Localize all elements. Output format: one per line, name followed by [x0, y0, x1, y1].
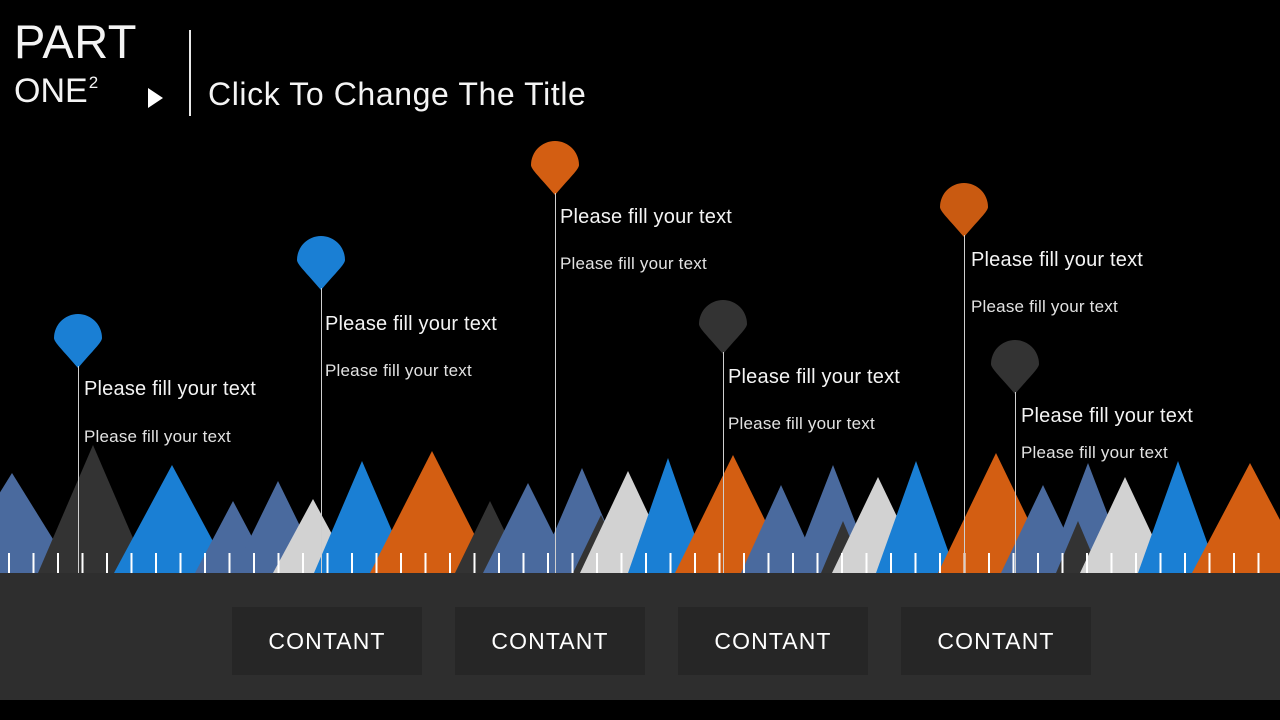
marker-label-secondary[interactable]: Please fill your text	[84, 427, 231, 447]
marker-label-secondary[interactable]: Please fill your text	[560, 254, 707, 274]
tick-mark	[229, 553, 231, 573]
part-superscript: 2	[89, 73, 98, 92]
marker-label-primary[interactable]: Please fill your text	[971, 249, 1143, 272]
content-button[interactable]: CONTANT	[901, 607, 1091, 675]
tick-mark	[890, 553, 892, 573]
footer-bottom-band	[0, 700, 1280, 720]
marker-label-secondary[interactable]: Please fill your text	[325, 361, 472, 381]
tick-mark	[817, 553, 819, 573]
balloon-stem	[78, 366, 79, 573]
tick-mark	[670, 553, 672, 573]
tick-mark	[253, 553, 255, 573]
tick-mark	[645, 553, 647, 573]
tick-mark	[33, 553, 35, 573]
tick-mark	[204, 553, 206, 573]
part-label-block: PART ONE2	[14, 18, 137, 108]
tick-mark	[400, 553, 402, 573]
tick-mark	[1184, 553, 1186, 573]
tick-mark	[939, 553, 941, 573]
tick-mark	[498, 553, 500, 573]
slide-header: PART ONE2 Click To Change The Title	[0, 0, 1280, 140]
part-word: PART	[14, 18, 137, 65]
content-button[interactable]: CONTANT	[232, 607, 422, 675]
tick-mark	[155, 553, 157, 573]
marker-label-primary[interactable]: Please fill your text	[560, 206, 732, 229]
tick-mark	[351, 553, 353, 573]
tick-mark	[841, 553, 843, 573]
marker-label-primary[interactable]: Please fill your text	[84, 378, 256, 401]
tick-mark	[1037, 553, 1039, 573]
tick-mark	[376, 553, 378, 573]
part-number-row: ONE2	[14, 74, 137, 108]
header-divider	[189, 30, 191, 116]
tick-mark	[572, 553, 574, 573]
tick-mark	[106, 553, 108, 573]
marker-label-secondary[interactable]: Please fill your text	[971, 297, 1118, 317]
tick-mark	[1062, 553, 1064, 573]
slide-canvas: PART ONE2 Click To Change The Title Plea…	[0, 0, 1280, 720]
tick-mark	[1086, 553, 1088, 573]
tick-mark	[474, 553, 476, 573]
tick-mark	[915, 553, 917, 573]
page-title[interactable]: Click To Change The Title	[208, 76, 586, 113]
content-button[interactable]: CONTANT	[455, 607, 645, 675]
marker-label-primary[interactable]: Please fill your text	[1021, 405, 1193, 428]
tick-mark	[82, 553, 84, 573]
tick-mark	[1233, 553, 1235, 573]
marker-label-secondary[interactable]: Please fill your text	[1021, 443, 1168, 463]
tick-mark	[1111, 553, 1113, 573]
tick-mark	[523, 553, 525, 573]
marker-label-secondary[interactable]: Please fill your text	[728, 414, 875, 434]
tick-mark	[180, 553, 182, 573]
tick-mark	[866, 553, 868, 573]
balloon-stem	[555, 193, 556, 573]
tick-mark	[792, 553, 794, 573]
tick-mark	[621, 553, 623, 573]
tick-mark	[1209, 553, 1211, 573]
tick-mark	[278, 553, 280, 573]
balloon-stem	[321, 288, 322, 573]
tick-mark	[1160, 553, 1162, 573]
tick-mark	[8, 553, 10, 573]
tick-mark	[302, 553, 304, 573]
tick-mark	[327, 553, 329, 573]
tick-mark	[743, 553, 745, 573]
tick-mark	[596, 553, 598, 573]
play-triangle-icon[interactable]	[148, 88, 163, 108]
tick-mark	[719, 553, 721, 573]
marker-label-primary[interactable]: Please fill your text	[325, 313, 497, 336]
tick-mark	[694, 553, 696, 573]
tick-mark	[131, 553, 133, 573]
balloon-stem	[964, 235, 965, 573]
tick-mark	[425, 553, 427, 573]
content-button[interactable]: CONTANT	[678, 607, 868, 675]
tick-mark	[547, 553, 549, 573]
footer-button-group: CONTANTCONTANTCONTANTCONTANT	[232, 607, 1091, 675]
marker-label-primary[interactable]: Please fill your text	[728, 366, 900, 389]
tick-mark	[57, 553, 59, 573]
part-number-word: ONE	[14, 72, 88, 110]
balloon-stem	[1015, 392, 1016, 573]
tick-mark	[768, 553, 770, 573]
tick-mark	[449, 553, 451, 573]
balloon-stem	[723, 352, 724, 573]
tick-mark	[1135, 553, 1137, 573]
mountain-peak	[1192, 463, 1280, 573]
tick-mark	[988, 553, 990, 573]
tick-mark	[1258, 553, 1260, 573]
